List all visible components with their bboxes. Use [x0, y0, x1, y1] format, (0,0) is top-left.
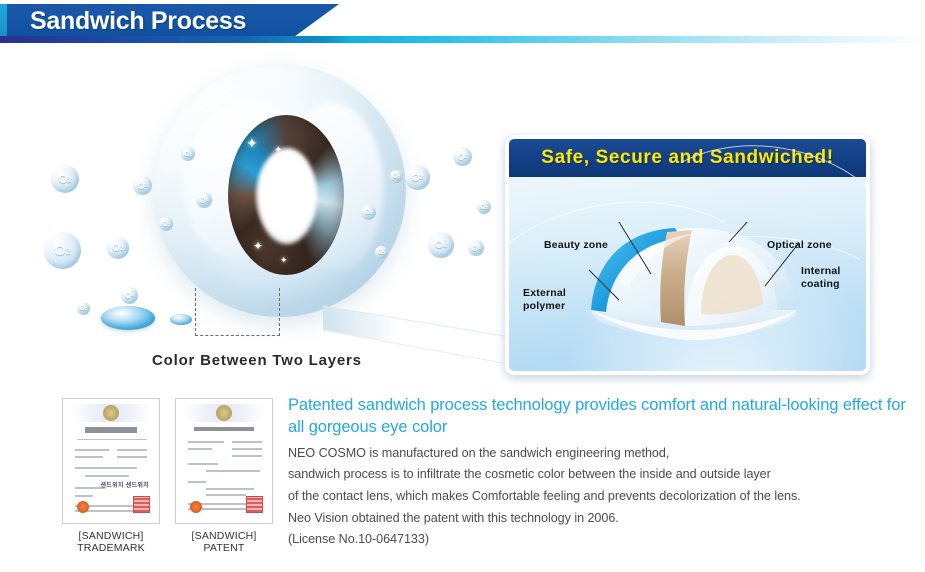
description-line: (License No.10-0647133)	[288, 529, 918, 551]
cert-red-stamp-icon	[246, 496, 263, 513]
cert-text-line	[75, 449, 109, 451]
cert-seal-icon	[216, 405, 232, 421]
water-drop-small-icon	[170, 314, 192, 325]
oxygen-bubble-icon: O2	[196, 192, 212, 208]
cert-text-line	[232, 455, 262, 457]
oxygen-bubble-icon: O2	[107, 237, 129, 259]
cert-text-line	[232, 448, 262, 450]
description-line: of the contact lens, which makes Comfort…	[288, 486, 918, 508]
cert-text-line	[188, 463, 218, 465]
sparkle-icon: ✦	[253, 240, 263, 252]
lens-pupil-highlight	[257, 148, 317, 244]
oxygen-bubble-icon: O2	[133, 176, 152, 195]
description-line: sandwich process is to infiltrate the co…	[288, 464, 918, 486]
oxygen-bubble-icon: O2	[361, 205, 376, 220]
cert-office-logo-icon	[77, 501, 89, 513]
header-gradient-rule	[0, 36, 925, 43]
oxygen-bubble-icon: O2	[77, 302, 90, 315]
cert-office-logo-icon	[190, 501, 202, 513]
cert-text-line	[206, 488, 254, 490]
oxygen-bubble-icon: O2	[405, 165, 430, 190]
water-drop-large-icon	[101, 306, 155, 330]
certificate-trademark-caption: [SANDWICH] TRADEMARK	[62, 530, 160, 554]
cross-section-callout-box	[195, 288, 280, 336]
sparkle-icon: ✦	[284, 167, 291, 175]
cert-seal-icon	[103, 405, 119, 421]
cert-text-line	[206, 494, 246, 496]
oxygen-bubble-icon: O2	[51, 165, 79, 193]
cert-text-line	[206, 470, 260, 472]
oxygen-bubble-icon: O2	[477, 200, 491, 214]
sparkle-icon: ✦	[280, 256, 288, 265]
oxygen-bubble-icon: O2	[390, 170, 403, 183]
oxygen-bubble-icon: O2	[121, 287, 138, 304]
certificate-patent-caption: [SANDWICH] PATENT	[175, 530, 273, 554]
cert-text-line	[188, 448, 212, 450]
label-internal-coating: Internal coating	[801, 265, 841, 291]
lens-caption: Color Between Two Layers	[152, 352, 362, 369]
oxygen-bubble-icon: O2	[181, 147, 195, 161]
cert-text-line	[85, 475, 129, 477]
cert-text-line	[117, 449, 147, 451]
label-external-polymer: External polymer	[523, 287, 566, 313]
description-heading: Patented sandwich process technology pro…	[288, 394, 918, 439]
page-header: Sandwich Process	[0, 0, 925, 46]
panel-body: Beauty zone Optical zone Internal coatin…	[509, 177, 866, 375]
oxygen-bubble-icon: O2	[453, 147, 472, 166]
page-title: Sandwich Process	[30, 7, 246, 36]
oxygen-bubble-icon: O2	[428, 232, 454, 258]
sparkle-icon: ✦	[246, 136, 258, 150]
oxygen-bubble-icon: O2	[44, 232, 81, 269]
header-accent-bar	[0, 4, 7, 38]
cert-text-line	[75, 467, 137, 469]
description-block: Patented sandwich process technology pro…	[288, 394, 918, 551]
cert-text-line	[188, 441, 224, 443]
oxygen-bubble-icon: O2	[468, 240, 484, 256]
label-optical-zone: Optical zone	[767, 239, 832, 252]
sandwich-diagram-panel: Safe, Secure and Sandwiched!	[505, 135, 870, 375]
description-body: NEO COSMO is manufactured on the sandwic…	[288, 443, 918, 551]
certificate-trademark-image: 샌드위치 샌드위치	[62, 398, 160, 524]
contact-lens-illustration: O2O2O2O2O2O2O2O2O2O2O2O2O2O2O2O2O2 ✦✦✦✦✦	[25, 50, 485, 360]
cert-text-line	[75, 456, 103, 458]
certificate-patent-image	[175, 398, 273, 524]
cert-title-line	[194, 427, 254, 431]
cert-title-line	[85, 427, 137, 433]
certificate-patent: [SANDWICH] PATENT	[175, 398, 273, 554]
cert-red-stamp-icon	[133, 496, 150, 513]
label-beauty-zone: Beauty zone	[544, 239, 608, 252]
description-line: NEO COSMO is manufactured on the sandwic…	[288, 443, 918, 465]
oxygen-bubble-icon: O2	[159, 217, 173, 231]
sparkle-icon: ✦	[274, 146, 282, 156]
oxygen-bubble-icon: O2	[375, 246, 388, 259]
description-line: Neo Vision obtained the patent with this…	[288, 508, 918, 530]
cert-text-line	[117, 456, 147, 458]
cert-korean-text: 샌드위치 샌드위치	[100, 483, 149, 491]
cert-text-line	[188, 481, 206, 483]
cert-text-line	[232, 441, 262, 443]
certificate-trademark: 샌드위치 샌드위치 [SANDWICH] TRADEMARK	[62, 398, 160, 554]
cert-rule	[77, 439, 147, 440]
cert-text-line	[75, 495, 93, 497]
